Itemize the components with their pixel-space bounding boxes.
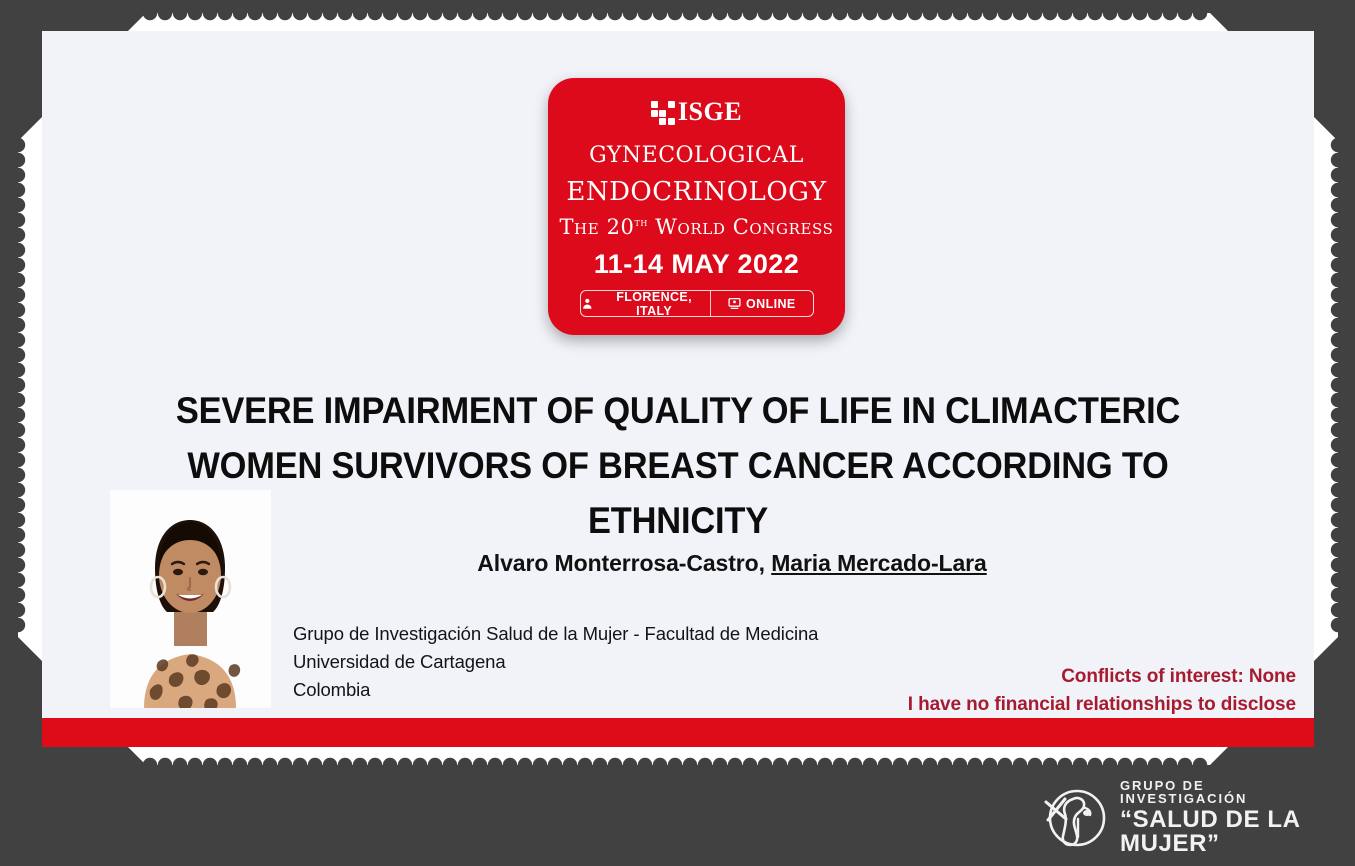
conflicts-line-1: Conflicts of interest: None xyxy=(908,663,1296,691)
portrait-illustration xyxy=(110,490,271,708)
logo-line-2: “SALUD DE LA MUJER” xyxy=(1120,808,1335,856)
affiliation-block: Grupo de Investigación Salud de la Mujer… xyxy=(293,620,818,704)
slide-stamp: ISGE Gynecological Endocrinology The 20t… xyxy=(18,13,1338,765)
conflicts-of-interest-block: Conflicts of interest: None I have no fi… xyxy=(908,663,1296,719)
conflicts-line-2: I have no financial relationships to dis… xyxy=(908,691,1296,719)
slide-stage: ISGE Gynecological Endocrinology The 20t… xyxy=(0,0,1355,866)
author-primary: Alvaro Monterrosa-Castro, xyxy=(477,550,771,576)
badge-mode-label: ONLINE xyxy=(746,297,796,311)
page-title: SEVERE IMPAIRMENT OF QUALITY OF LIFE IN … xyxy=(114,383,1241,548)
presenter-photo xyxy=(110,490,271,708)
badge-line-endocrinology: Endocrinology xyxy=(548,168,845,208)
authors-line: Alvaro Monterrosa-Castro, Maria Mercado-… xyxy=(302,550,1162,577)
badge-venue-segment: FLORENCE, ITALY xyxy=(581,291,712,316)
research-group-logo: GRUPO DE INVESTIGACIÓN “SALUD DE LA MUJE… xyxy=(1040,783,1335,851)
badge-line-gynecological: Gynecological xyxy=(548,133,845,169)
location-pin-icon xyxy=(581,297,594,310)
online-screen-icon xyxy=(728,297,741,310)
badge-mode-segment: ONLINE xyxy=(711,291,812,316)
badge-venue-strip: FLORENCE, ITALY ONLINE xyxy=(580,290,814,317)
affiliation-line-3: Colombia xyxy=(293,676,818,704)
congress-suffix: World Congress xyxy=(648,215,834,239)
isge-logo: ISGE xyxy=(548,97,845,127)
red-accent-bar xyxy=(42,718,1314,747)
author-presenting: Maria Mercado-Lara xyxy=(771,550,987,576)
congress-ordinal: th xyxy=(635,216,649,229)
affiliation-line-1: Grupo de Investigación Salud de la Mujer… xyxy=(293,620,818,648)
logo-text-block: GRUPO DE INVESTIGACIÓN “SALUD DE LA MUJE… xyxy=(1120,779,1335,856)
congress-prefix: The 20 xyxy=(559,215,634,239)
badge-dates: 11-14 MAY 2022 xyxy=(548,249,845,279)
logo-line-1: GRUPO DE INVESTIGACIÓN xyxy=(1120,779,1335,805)
isge-grid-icon xyxy=(651,101,675,125)
badge-venue-label: FLORENCE, ITALY xyxy=(598,290,710,318)
congress-badge: ISGE Gynecological Endocrinology The 20t… xyxy=(548,78,845,335)
woman-figure-circle-icon xyxy=(1040,786,1110,848)
slide-canvas: ISGE Gynecological Endocrinology The 20t… xyxy=(42,31,1314,747)
isge-wordmark: ISGE xyxy=(678,99,742,125)
affiliation-line-2: Universidad de Cartagena xyxy=(293,648,818,676)
badge-line-congress: The 20th World Congress xyxy=(548,210,845,240)
